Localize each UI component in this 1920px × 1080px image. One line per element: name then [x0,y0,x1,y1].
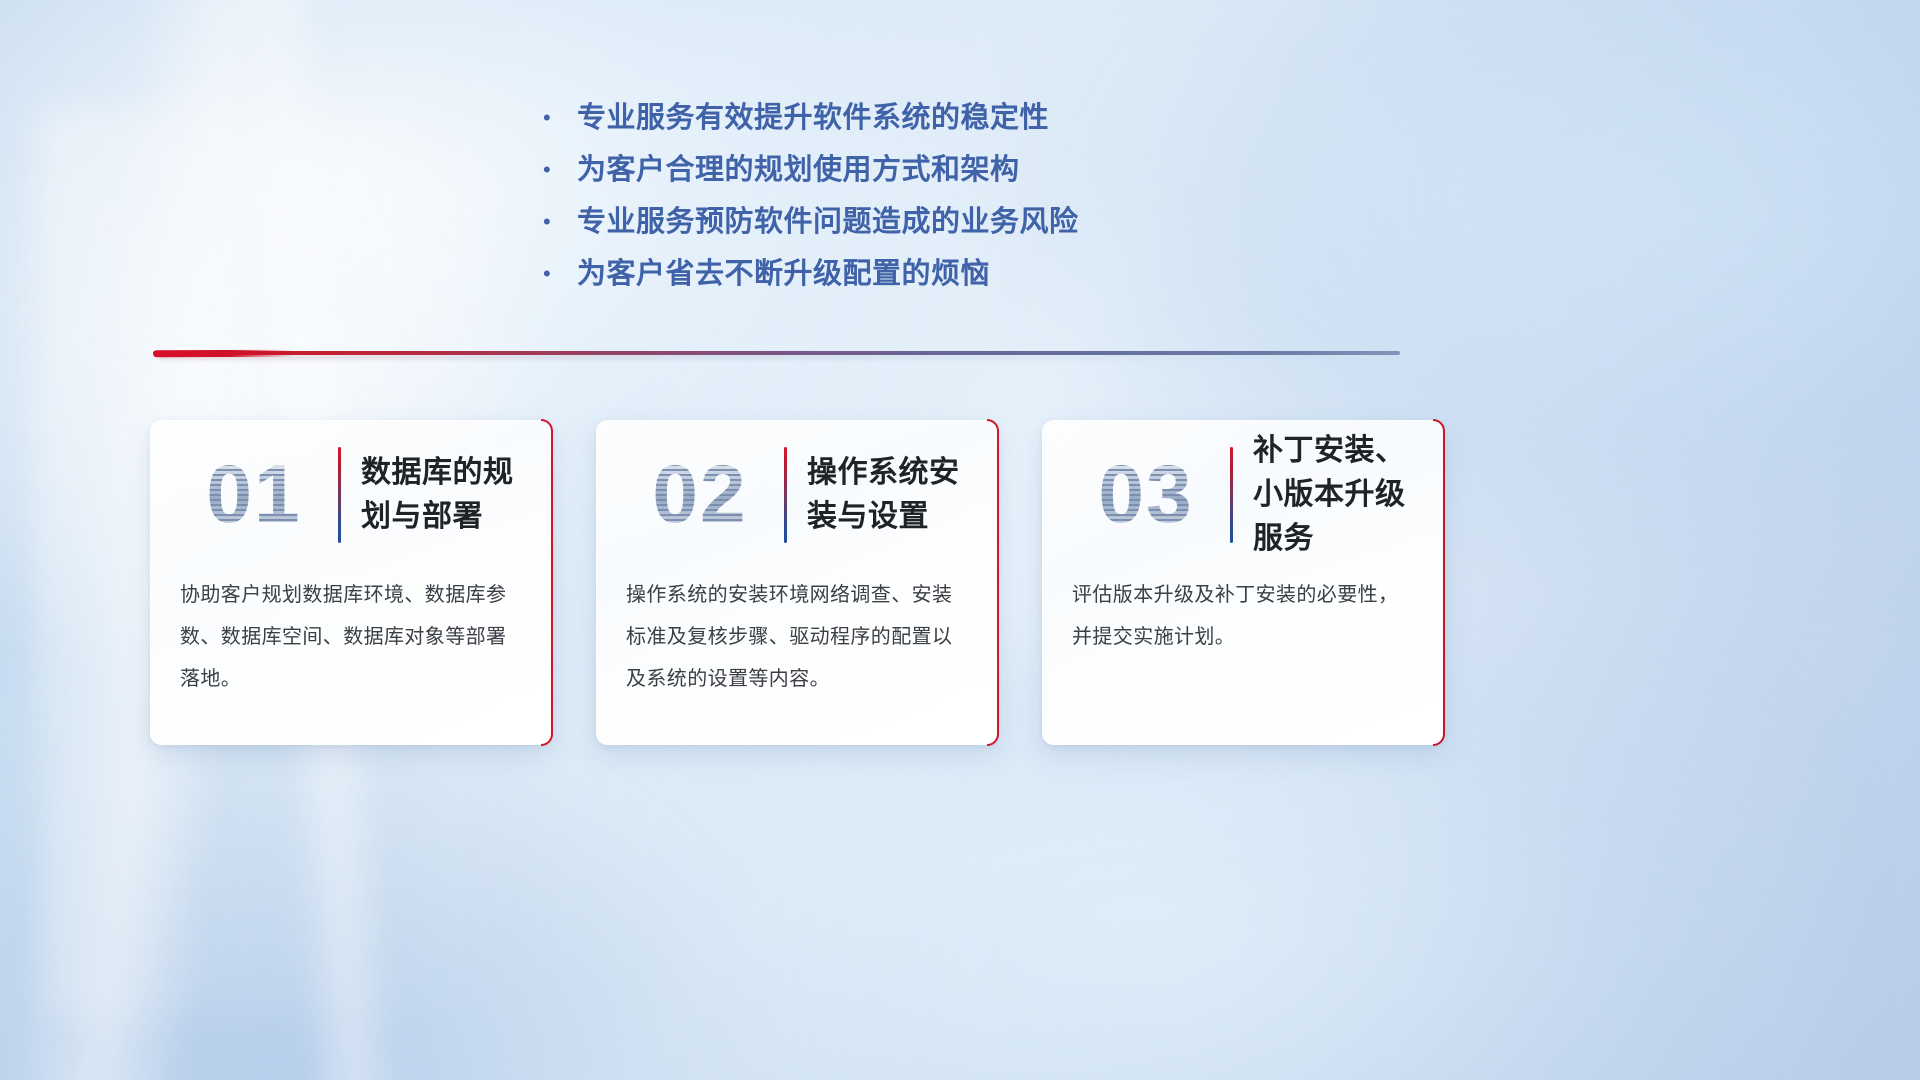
service-card-01[interactable]: 01 数据库的规划与部署 协助客户规划数据库环境、数据库参数、数据库空间、数据库… [150,420,552,745]
card-body: 评估版本升级及补丁安装的必要性，并提交实施计划。 [1042,574,1444,658]
section-divider [153,346,1400,362]
bullet-text: 专业服务预防软件问题造成的业务风险 [577,196,1079,248]
card-title: 操作系统安装与设置 [807,451,972,539]
bullet-dot-icon: • [543,196,577,248]
card-description: 评估版本升级及补丁安装的必要性，并提交实施计划。 [1072,574,1414,658]
list-item: • 为客户省去不断升级配置的烦恼 [543,248,1243,300]
card-divider-bar [338,447,341,543]
bullet-dot-icon: • [543,144,577,196]
bullet-text: 为客户合理的规划使用方式和架构 [577,144,1020,196]
card-divider-bar [1230,447,1233,543]
card-number: 01 [178,454,330,536]
divider-line [153,351,1400,355]
list-item: • 专业服务预防软件问题造成的业务风险 [543,196,1243,248]
card-header: 01 数据库的规划与部署 [150,420,552,570]
bullet-text: 专业服务有效提升软件系统的稳定性 [577,92,1049,144]
benefits-bullet-list: • 专业服务有效提升软件系统的稳定性 • 为客户合理的规划使用方式和架构 • 专… [543,92,1243,300]
list-item: • 专业服务有效提升软件系统的稳定性 [543,92,1243,144]
card-title: 补丁安装、小版本升级服务 [1253,429,1418,561]
card-body: 协助客户规划数据库环境、数据库参数、数据库空间、数据库对象等部署落地。 [150,574,552,700]
service-card-03[interactable]: 03 补丁安装、小版本升级服务 评估版本升级及补丁安装的必要性，并提交实施计划。 [1042,420,1444,745]
divider-shadow [159,355,1394,359]
card-title: 数据库的规划与部署 [361,451,526,539]
card-number: 02 [624,454,776,536]
card-description: 操作系统的安装环境网络调查、安装标准及复核步骤、驱动程序的配置以及系统的设置等内… [626,574,968,700]
list-item: • 为客户合理的规划使用方式和架构 [543,144,1243,196]
card-description: 协助客户规划数据库环境、数据库参数、数据库空间、数据库对象等部署落地。 [180,574,522,700]
service-card-group: 01 数据库的规划与部署 协助客户规划数据库环境、数据库参数、数据库空间、数据库… [150,420,1444,745]
bullet-dot-icon: • [543,248,577,300]
bullet-dot-icon: • [543,92,577,144]
bullet-text: 为客户省去不断升级配置的烦恼 [577,248,990,300]
card-divider-bar [784,447,787,543]
card-body: 操作系统的安装环境网络调查、安装标准及复核步骤、驱动程序的配置以及系统的设置等内… [596,574,998,700]
service-card-02[interactable]: 02 操作系统安装与设置 操作系统的安装环境网络调查、安装标准及复核步骤、驱动程… [596,420,998,745]
card-number: 03 [1070,454,1222,536]
divider-red-tip [153,350,293,358]
card-header: 02 操作系统安装与设置 [596,420,998,570]
card-header: 03 补丁安装、小版本升级服务 [1042,420,1444,570]
